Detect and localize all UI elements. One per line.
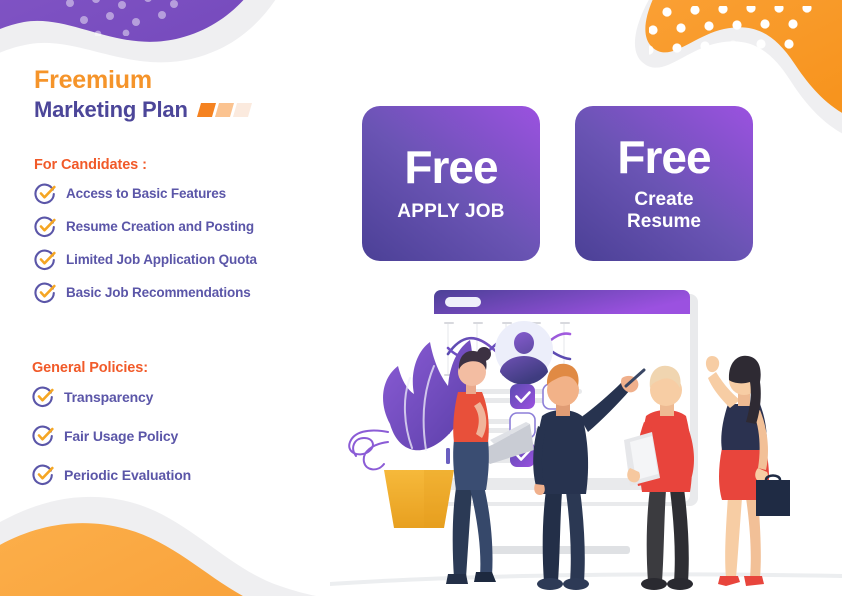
accent-bar-1 <box>197 103 216 117</box>
accent-bar-3 <box>233 103 252 117</box>
list-item-label: Periodic Evaluation <box>64 467 191 483</box>
check-circle-icon <box>32 425 54 447</box>
policies-list: Transparency Fair Usage Policy Periodic … <box>34 386 354 486</box>
plan-title-freemium: Freemium <box>34 66 354 95</box>
plant-tendril-2 <box>364 442 388 469</box>
candidates-heading: For Candidates : <box>34 157 354 173</box>
list-item-label: Transparency <box>64 389 153 405</box>
shoe-right <box>563 578 589 590</box>
list-item-label: Fair Usage Policy <box>64 428 178 444</box>
price-card-subtitle-line2: Resume <box>627 211 701 233</box>
checkbox-checked <box>510 384 535 409</box>
price-card-subtitle-line1: Create <box>627 189 701 211</box>
briefcase <box>756 480 790 516</box>
list-item: Limited Job Application Quota <box>34 249 354 271</box>
plan-title-marketing-plan: Marketing Plan <box>34 97 188 123</box>
list-item-label: Limited Job Application Quota <box>66 252 257 267</box>
check-circle-icon <box>32 386 54 408</box>
top-right-dot-pattern <box>649 6 824 76</box>
hand-pointing <box>706 356 719 372</box>
leg-left <box>725 496 742 578</box>
bottom-left-orange-wave <box>0 495 325 596</box>
leg-left <box>543 490 562 582</box>
list-item-label: Access to Basic Features <box>66 186 226 201</box>
list-item: Fair Usage Policy <box>32 425 354 447</box>
price-card-subtitle: APPLY JOB <box>397 201 504 223</box>
hero-illustration <box>330 282 842 596</box>
price-card-price: Free <box>617 134 710 180</box>
hair-bun <box>477 347 491 361</box>
shoe-left <box>641 578 667 590</box>
accent-bars <box>199 103 250 117</box>
leg-left <box>647 488 666 582</box>
check-circle-icon <box>34 249 56 271</box>
dashboard-bottom-pill <box>490 546 630 554</box>
candidates-list: Access to Basic Features Resume Creation… <box>34 183 354 304</box>
shoe-left <box>537 578 563 590</box>
price-card-apply-job[interactable]: Free APPLY JOB <box>362 106 540 261</box>
plan-title-row: Marketing Plan <box>34 97 354 123</box>
check-circle-icon <box>34 183 56 205</box>
policies-heading: General Policies: <box>32 360 354 376</box>
shoe-back <box>446 574 468 584</box>
shoe-right <box>744 576 764 586</box>
list-item: Periodic Evaluation <box>32 464 354 486</box>
check-circle-icon <box>32 464 54 486</box>
shoe-left <box>718 576 740 586</box>
price-card-price: Free <box>404 144 497 190</box>
shoe-right <box>667 578 693 590</box>
plan-details-column: Freemium Marketing Plan For Candidates :… <box>34 66 354 503</box>
top-left-dot-pattern <box>60 0 200 36</box>
leg-back <box>453 488 472 578</box>
dashboard-header-pill <box>445 297 481 307</box>
shoe-front <box>474 572 496 582</box>
accent-bar-2 <box>215 103 234 117</box>
jacket <box>536 410 588 494</box>
list-item: Transparency <box>32 386 354 408</box>
check-circle-icon <box>34 216 56 238</box>
figure-woman-with-briefcase <box>706 356 790 586</box>
price-card-create-resume[interactable]: Free Create Resume <box>575 106 753 261</box>
check-circle-icon <box>34 282 56 304</box>
list-item: Resume Creation and Posting <box>34 216 354 238</box>
skirt-pants <box>453 440 489 490</box>
list-item-label: Basic Job Recommendations <box>66 285 251 300</box>
list-item: Basic Job Recommendations <box>34 282 354 304</box>
price-card-subtitle: Create Resume <box>627 189 701 233</box>
avatar <box>495 321 553 385</box>
list-item: Access to Basic Features <box>34 183 354 205</box>
list-item-label: Resume Creation and Posting <box>66 219 254 234</box>
poster-canvas: Freemium Marketing Plan For Candidates :… <box>0 0 842 596</box>
